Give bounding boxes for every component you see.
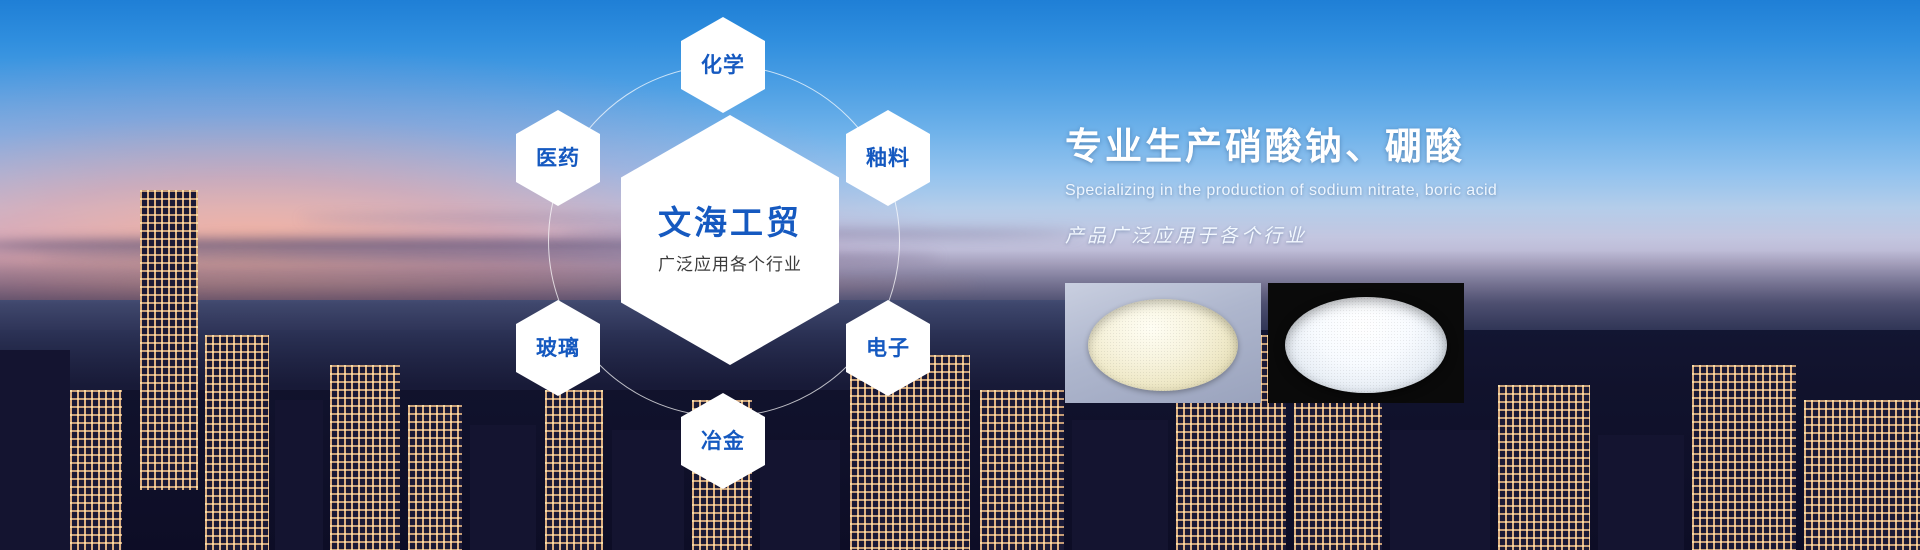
powder-grain-texture [1088,299,1238,391]
promo-banner: 化学 釉料 电子 冶金 玻璃 医药 文海工贸 广泛应用各个行业 专业生产硝酸钠、… [0,0,1920,550]
city-light-glow [0,290,1920,550]
product-photo-group [1065,283,1464,403]
tagline-chinese: 产品广泛应用于各个行业 [1065,221,1845,248]
hex-node-label: 医药 [536,148,580,169]
hex-node-label: 釉料 [866,148,910,169]
powder-pile [1088,299,1238,391]
hex-node-label: 冶金 [701,431,745,452]
industry-hexagon-diagram: 化学 釉料 电子 冶金 玻璃 医药 文海工贸 广泛应用各个行业 [520,25,940,525]
company-name: 文海工贸 [658,205,802,241]
product-photo-sodium-nitrate[interactable] [1065,283,1261,403]
powder-grain-texture [1285,297,1447,393]
hex-node-label: 电子 [866,338,910,359]
hex-node-label: 化学 [701,55,745,76]
subhead-english: Specializing in the production of sodium… [1065,182,1845,200]
product-photo-boric-acid[interactable] [1268,283,1464,403]
background-cityscape [0,0,1920,550]
powder-pile [1285,297,1447,393]
headline-block: 专业生产硝酸钠、硼酸 Specializing in the productio… [1065,125,1845,248]
headline-chinese: 专业生产硝酸钠、硼酸 [1065,125,1845,169]
hex-node-label: 玻璃 [536,338,580,359]
company-tagline: 广泛应用各个行业 [658,250,802,275]
